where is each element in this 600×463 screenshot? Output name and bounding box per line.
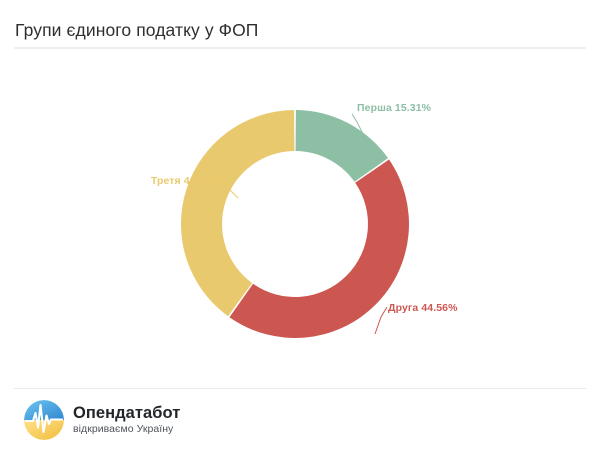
leader-line-druha <box>375 307 387 334</box>
donut-slice-tretia[interactable] <box>181 110 294 316</box>
brand-name: Опендатабот <box>73 404 180 422</box>
donut-label-persha: Перша 15.31% <box>357 102 432 114</box>
donut-label-tretia: Третя 40.13% <box>151 175 221 187</box>
donut-label-druha: Друга 44.56% <box>388 302 458 314</box>
header: Групи єдиного податку у ФОП <box>0 0 600 47</box>
footer: Опендатабот відкриваємо Україну <box>0 389 600 463</box>
page-title: Групи єдиного податку у ФОП <box>15 20 258 40</box>
donut-chart: Перша 15.31% Друга 44.56% Третя 40.13% <box>0 52 600 385</box>
header-divider <box>14 47 586 49</box>
brand-tagline: відкриваємо Україну <box>73 423 180 436</box>
brand-text: Опендатабот відкриваємо Україну <box>73 404 180 436</box>
donut-chart-svg: Перша 15.31% Друга 44.56% Третя 40.13% <box>0 52 600 385</box>
chart-page: Групи єдиного податку у ФОП Перша 15.31%… <box>0 0 600 463</box>
donut-slice-druha[interactable] <box>229 160 409 338</box>
brand-logo[interactable]: Опендатабот відкриваємо Україну <box>24 400 180 440</box>
opendatabot-pulse-circle-icon <box>24 400 64 440</box>
